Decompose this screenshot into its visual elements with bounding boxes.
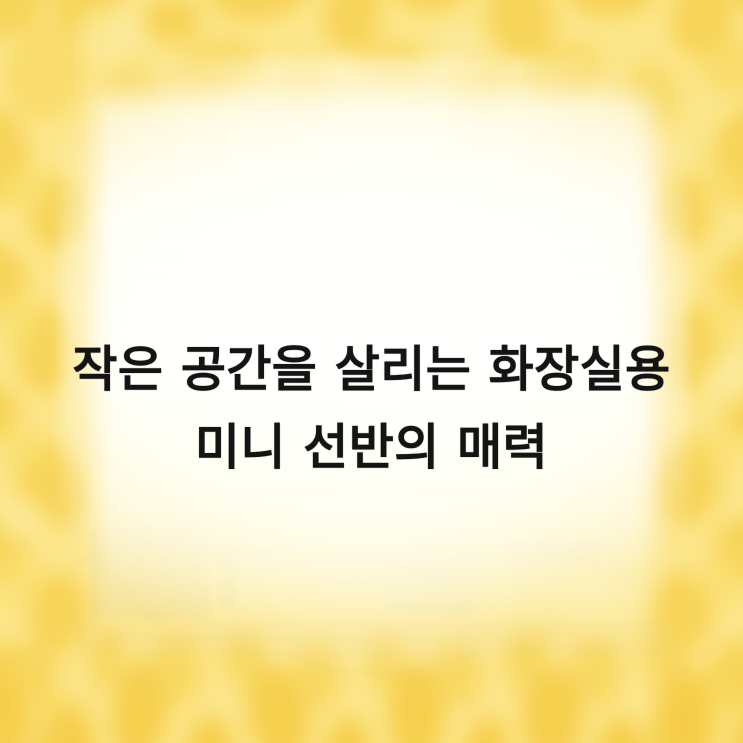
thumbnail-canvas: 작은 공간을 살리는 화장실용 미니 선반의 매력 [0,0,743,743]
bathroom-shelf-photo [78,470,668,700]
